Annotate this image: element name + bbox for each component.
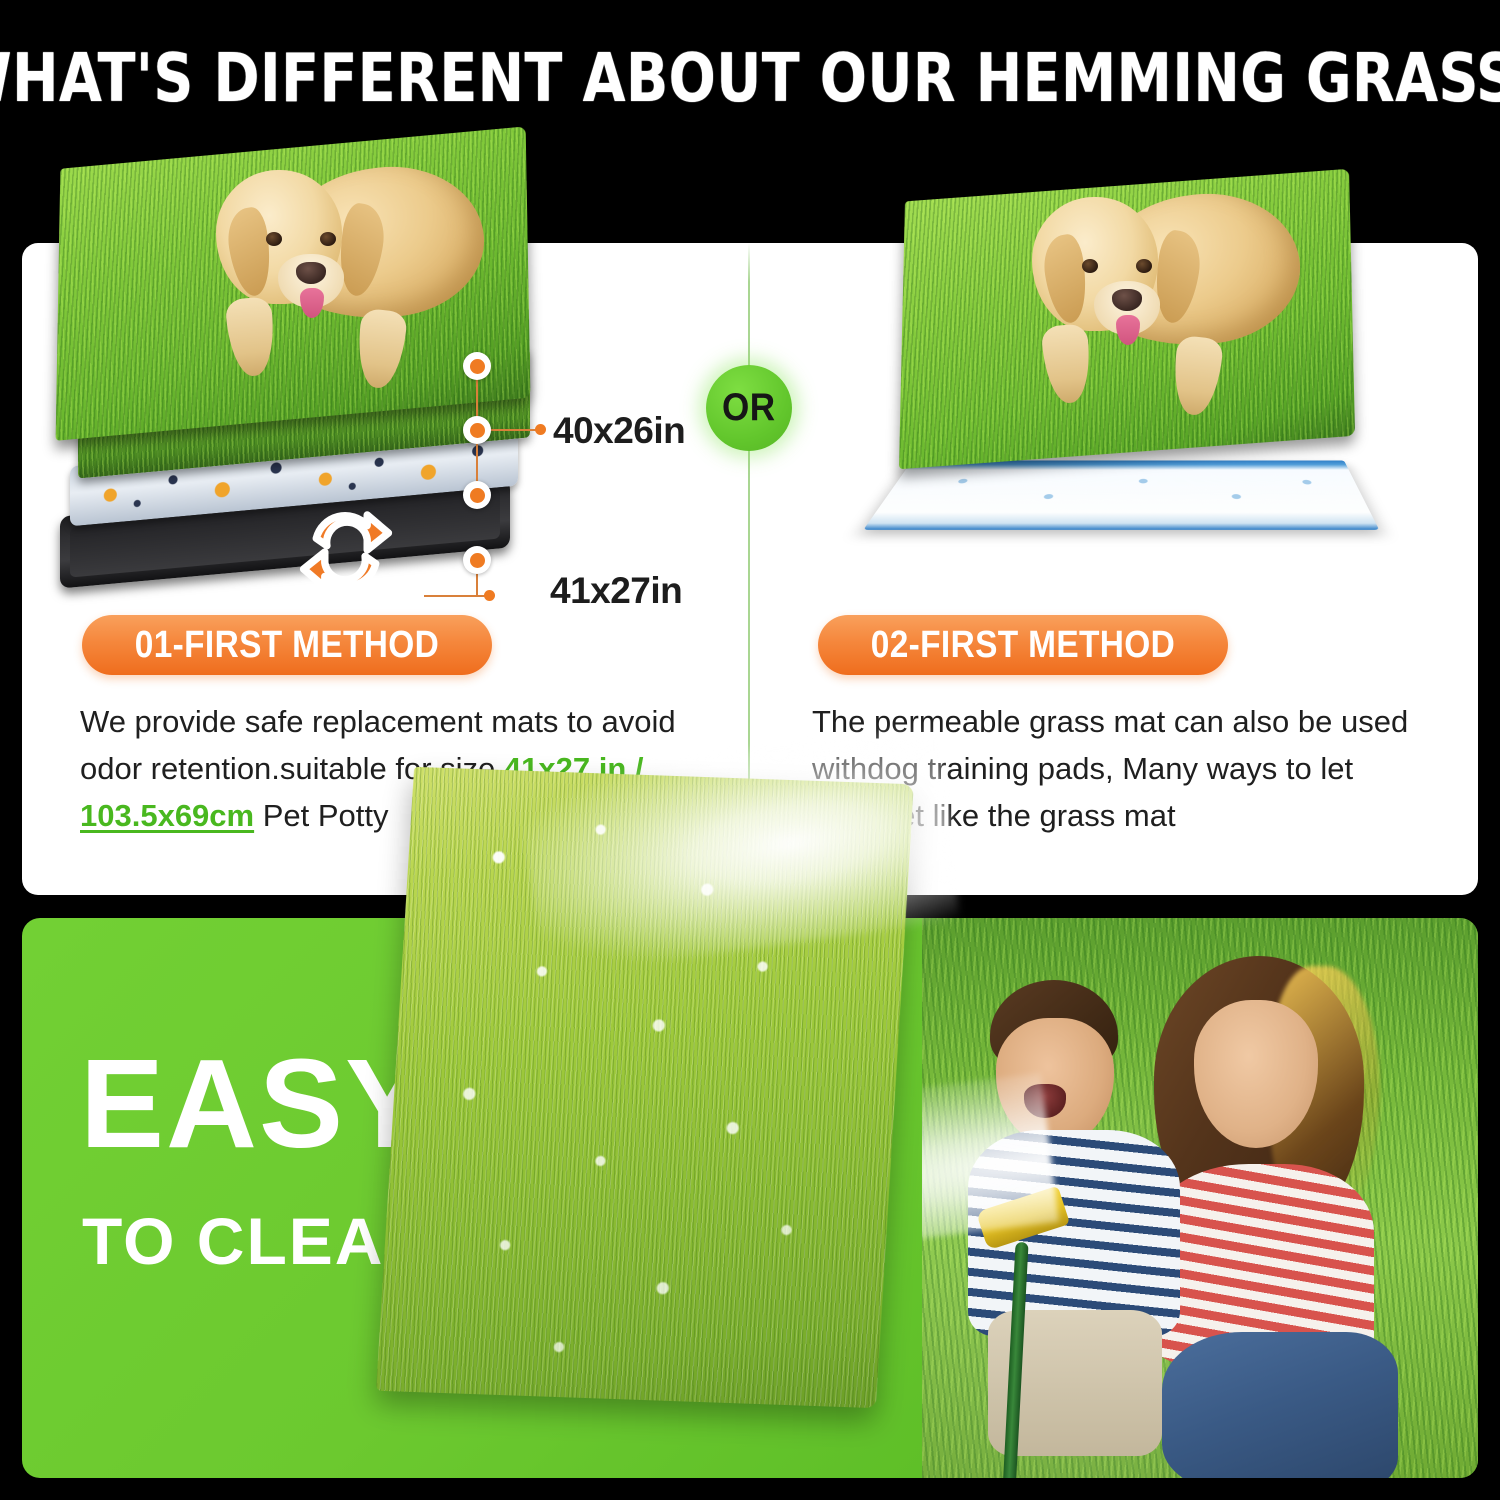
dog-eye-left [266, 232, 282, 246]
method-badge-1: 01-FIRST METHOD [82, 615, 492, 675]
dog-eye-right [1136, 259, 1152, 273]
dog-ear-left [1039, 232, 1092, 325]
method-badge-2-label: 02-FIRST METHOD [871, 624, 1175, 667]
or-badge: OR [706, 365, 792, 451]
method-badge-2: 02-FIRST METHOD [818, 615, 1228, 675]
dimension-marker-2 [463, 416, 491, 444]
page-title-text: WHAT'S DIFFERENT ABOUT OUR HEMMING GRASS… [0, 39, 1500, 117]
dimension-marker-4 [463, 546, 491, 574]
dog-eye-right [320, 232, 336, 246]
dog-paw-left [1041, 323, 1094, 405]
panel-subhead: TO CLEAN [82, 1208, 434, 1274]
dimension-label-bottom: 41x27in [550, 570, 682, 612]
panel-headline: EASY [80, 1046, 431, 1162]
family-hose-photo [922, 918, 1478, 1478]
wet-grass-mat-image [376, 767, 914, 1408]
infographic-page: WHAT'S DIFFERENT ABOUT OUR HEMMING GRASS… [0, 0, 1500, 1500]
dog-paw-right [1170, 335, 1224, 417]
marker-connector-horizontal-bottom [424, 595, 488, 597]
marker-tip-dot-top [535, 424, 546, 435]
dimension-marker-1 [463, 352, 491, 380]
method-badge-1-label: 01-FIRST METHOD [135, 624, 439, 667]
training-pad-pattern [884, 466, 1361, 522]
training-pad-layer [863, 460, 1379, 529]
or-badge-label: OR [722, 386, 776, 430]
dog-head [1032, 197, 1158, 331]
dog-ear-left [223, 205, 276, 298]
dog-tongue [300, 288, 324, 318]
page-title: WHAT'S DIFFERENT ABOUT OUR HEMMING GRASS… [0, 38, 1500, 118]
golden-retriever-left [182, 150, 492, 412]
dimension-marker-3 [463, 481, 491, 509]
dog-eye-left [1082, 259, 1098, 273]
golden-retriever-right [998, 177, 1298, 445]
replace-arrows-icon [292, 498, 400, 604]
dog-head [216, 170, 342, 304]
dimension-label-top: 40x26in [553, 410, 685, 452]
marker-tip-dot-bottom [484, 590, 495, 601]
grass-mat-on-pad-image [880, 155, 1380, 565]
dog-paw-left [225, 296, 278, 378]
dog-paw-right [354, 308, 408, 390]
boy-figure [952, 980, 1202, 1450]
method-1-text-after: Pet Potty [254, 798, 388, 833]
dog-tongue [1116, 315, 1140, 345]
